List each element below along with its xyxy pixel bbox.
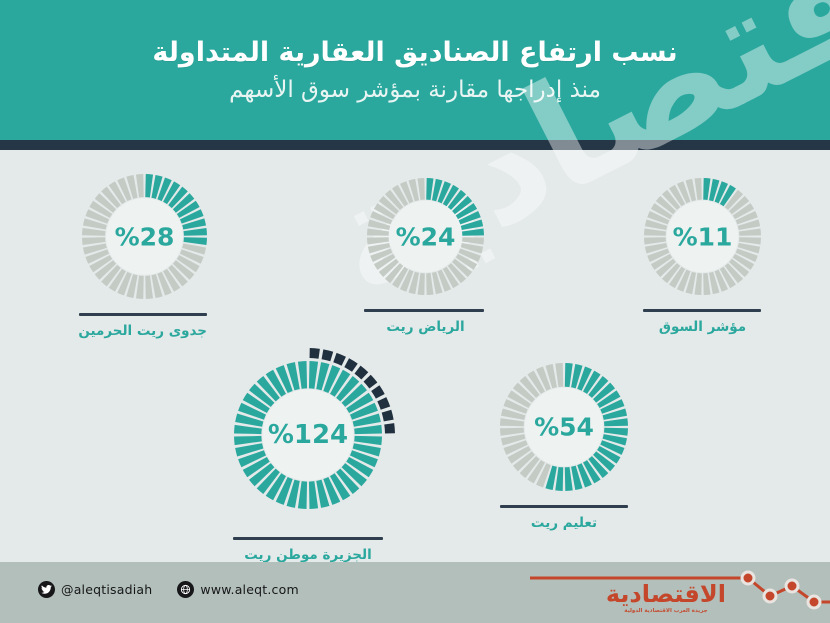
website-url: www.aleqt.com — [200, 582, 298, 597]
brand-logo: الاقتصادية جريدة العرب الاقتصادية الدولي… — [606, 582, 726, 614]
donut-overflow-segment — [371, 385, 385, 398]
chart-caption: الجزيرة موطن ريت — [220, 547, 396, 563]
caption-rule — [79, 313, 207, 316]
charts-area: %28جدوى ريت الحرمين%24الرياض ريت%11مؤشر … — [0, 150, 830, 562]
donut-ring: %24 — [367, 178, 484, 295]
donut-segment — [298, 361, 307, 389]
donut-segment — [309, 361, 318, 389]
donut-segment — [418, 178, 425, 200]
donut-segment — [703, 178, 710, 200]
donut-overflow-segment — [322, 349, 334, 361]
page-title: نسب ارتفاع الصناديق العقارية المتداولة — [152, 36, 677, 70]
caption-rule — [364, 309, 484, 312]
website-link[interactable]: www.aleqt.com — [177, 581, 298, 598]
donut-ring: %124 — [220, 347, 396, 523]
donut-segment — [426, 273, 433, 295]
chart-jazira-mawten: %124الجزيرة موطن ريت — [220, 347, 396, 563]
page-subtitle: منذ إدراجها مقارنة بمؤشر سوق الأسهم — [229, 76, 601, 105]
donut-segment — [136, 276, 144, 299]
percentage-value: %124 — [220, 422, 396, 448]
donut-segment — [298, 481, 307, 509]
percentage-value: %54 — [500, 415, 628, 440]
header-banner: نسب ارتفاع الصناديق العقارية المتداولة م… — [0, 0, 830, 150]
donut-overflow-segment — [310, 348, 320, 359]
donut-segment — [695, 178, 702, 200]
donut-segment — [703, 273, 710, 295]
donut-ring: %54 — [500, 363, 628, 491]
donut-segment — [418, 273, 425, 295]
chart-caption: تعليم ريت — [500, 515, 628, 531]
globe-icon — [177, 581, 194, 598]
donut-segment — [565, 363, 573, 387]
twitter-link[interactable]: @aleqtisadiah — [38, 581, 152, 598]
brand-name: الاقتصادية — [606, 582, 726, 606]
donut-segment — [145, 276, 153, 299]
percentage-value: %24 — [367, 224, 484, 249]
donut-segment — [555, 467, 563, 491]
caption-rule — [643, 309, 761, 312]
chart-market-index: %11مؤشر السوق — [644, 178, 761, 335]
donut-overflow-segment — [355, 366, 369, 380]
donut-ring: %11 — [644, 178, 761, 295]
twitter-bird-icon — [38, 581, 55, 598]
chart-caption: جدوى ريت الحرمين — [82, 323, 207, 339]
donut-segment — [565, 467, 573, 491]
brand-tagline: جريدة العرب الاقتصادية الدولية — [606, 608, 726, 614]
publisher-brand: الاقتصادية جريدة العرب الاقتصادية الدولي… — [508, 568, 808, 623]
caption-rule — [500, 505, 628, 508]
chart-taleem-reit: %54تعليم ريت — [500, 363, 628, 531]
infographic-canvas: نسب ارتفاع الصناديق العقارية المتداولة م… — [0, 0, 830, 623]
twitter-handle: @aleqtisadiah — [61, 582, 152, 597]
donut-overflow-segment — [377, 397, 390, 410]
chart-caption: الرياض ريت — [367, 319, 484, 335]
donut-overflow-segment — [333, 353, 346, 366]
chart-caption: مؤشر السوق — [644, 319, 761, 335]
social-links: @aleqtisadiah www.aleqt.com — [38, 581, 299, 598]
donut-segment — [426, 178, 433, 200]
caption-rule — [233, 537, 383, 540]
donut-overflow-segment — [364, 375, 378, 389]
percentage-value: %11 — [644, 224, 761, 249]
donut-segment — [136, 174, 144, 197]
donut-ring: %28 — [82, 174, 207, 299]
chart-riyad-reit: %24الرياض ريت — [367, 178, 484, 335]
chart-jadwa-haramain: %28جدوى ريت الحرمين — [82, 174, 207, 339]
donut-overflow-segment — [344, 358, 357, 372]
donut-segment — [309, 481, 318, 509]
donut-segment — [555, 363, 563, 387]
donut-segment — [695, 273, 702, 295]
donut-overflow-segment — [382, 410, 394, 422]
percentage-value: %28 — [82, 224, 207, 249]
footer-bar: @aleqtisadiah www.aleqt.com — [0, 562, 830, 623]
donut-segment — [145, 174, 153, 197]
